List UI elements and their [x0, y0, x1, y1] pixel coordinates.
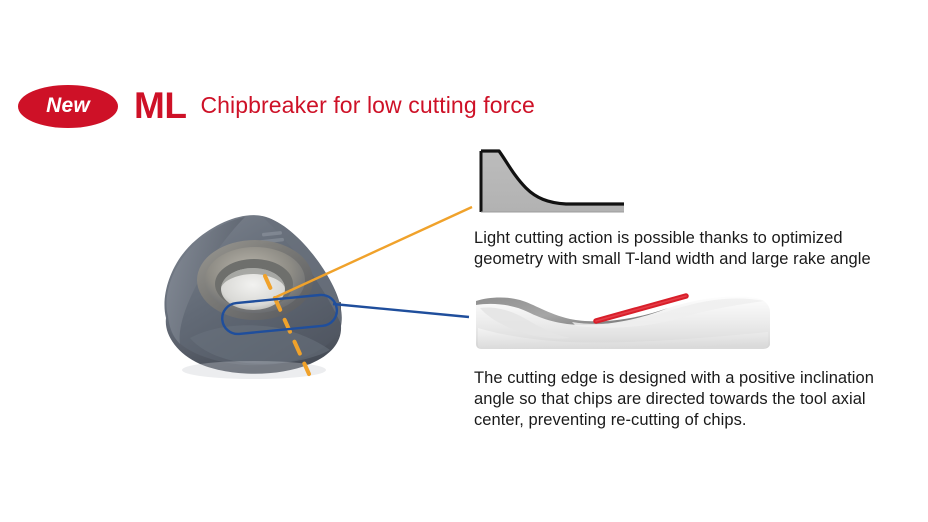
new-badge: New	[18, 85, 118, 128]
caption-light-cutting: Light cutting action is possible thanks …	[474, 228, 924, 270]
leader-line-blue	[333, 304, 469, 317]
t-land-cross-section-figure	[474, 146, 630, 216]
cutting-edge-3d-figure	[472, 288, 772, 350]
page-title: Chipbreaker for low cutting force	[200, 94, 534, 118]
caption-inclination-angle: The cutting edge is designed with a posi…	[474, 368, 924, 431]
title-block: New ML Chipbreaker for low cutting force	[18, 82, 535, 130]
milling-insert-photo	[150, 198, 350, 380]
product-code-label: ML	[134, 87, 186, 126]
slide-canvas: New ML Chipbreaker for low cutting force	[0, 0, 928, 522]
new-badge-label: New	[46, 95, 90, 118]
